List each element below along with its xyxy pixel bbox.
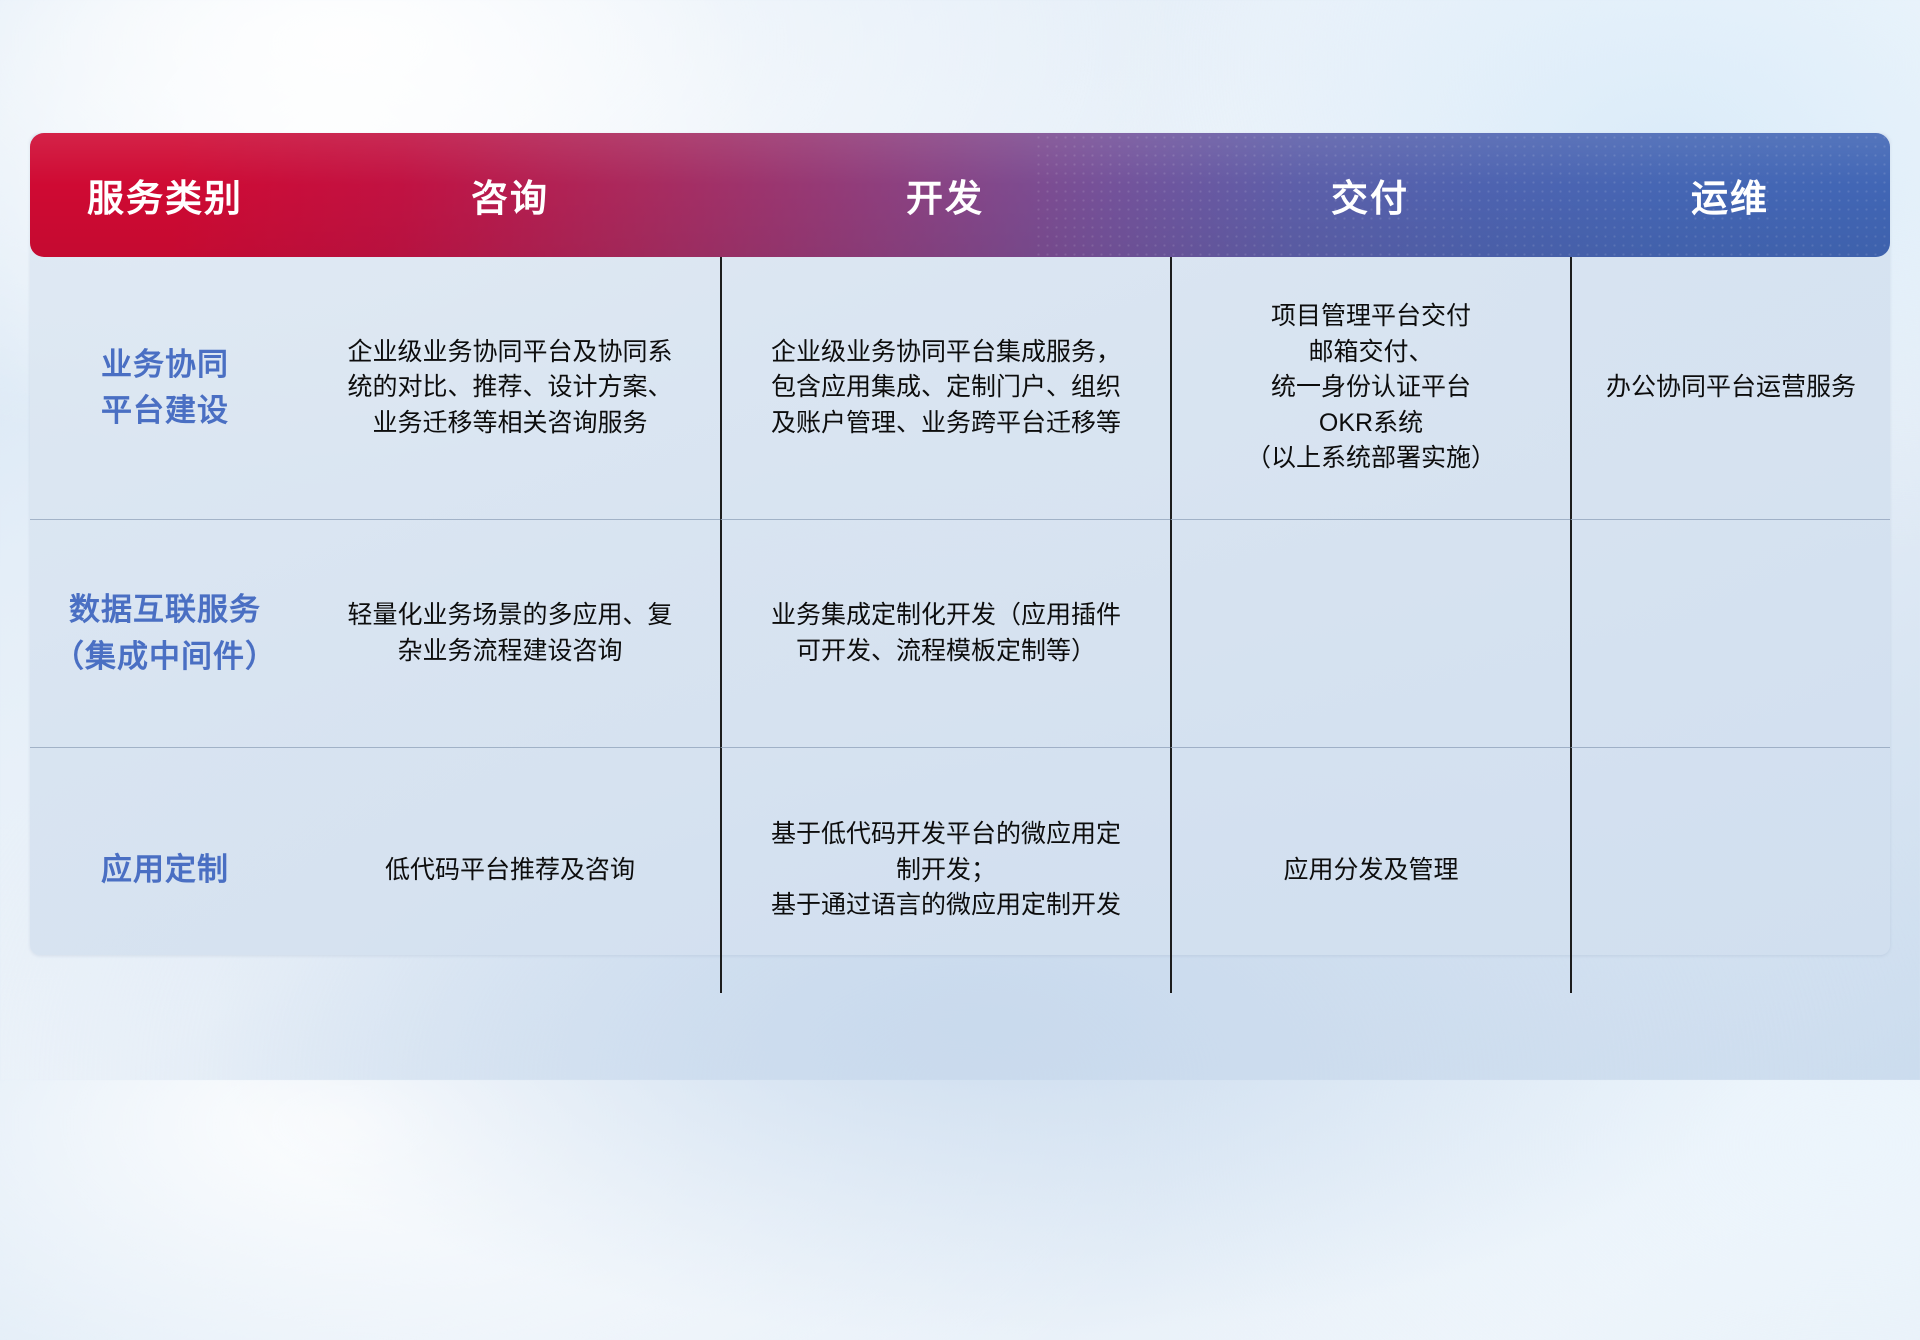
cell-row2-delivery — [1170, 519, 1570, 747]
cell-row1-consulting: 企业级业务协同平台及协同系 统的对比、推荐、设计方案、 业务迁移等相关咨询服务 — [300, 257, 720, 519]
service-matrix-table: 服务类别 咨询 开发 交付 运维 业务协同 平台建设 企业级业务协同平台及协同系… — [30, 133, 1890, 955]
column-header-consulting: 咨询 — [300, 133, 720, 257]
row-label-data-integration: 数据互联服务 （集成中间件） — [30, 519, 300, 747]
row-label-business-collaboration: 业务协同 平台建设 — [30, 257, 300, 519]
cell-row1-delivery: 项目管理平台交付 邮箱交付、 统一身份认证平台 OKR系统 （以上系统部署实施） — [1170, 257, 1570, 519]
column-header-operations: 运维 — [1570, 133, 1890, 257]
slide-canvas: 服务类别 咨询 开发 交付 运维 业务协同 平台建设 企业级业务协同平台及协同系… — [0, 0, 1920, 1080]
column-header-development: 开发 — [720, 133, 1170, 257]
cell-row3-development: 基于低代码开发平台的微应用定 制开发； 基于通过语言的微应用定制开发 — [720, 747, 1170, 993]
cell-row2-operations — [1570, 519, 1890, 747]
column-header-category: 服务类别 — [30, 133, 300, 257]
row-label-app-customization: 应用定制 — [30, 747, 300, 993]
cell-row3-consulting: 低代码平台推荐及咨询 — [300, 747, 720, 993]
cell-row1-development: 企业级业务协同平台集成服务， 包含应用集成、定制门户、组织 及账户管理、业务跨平… — [720, 257, 1170, 519]
table-body: 业务协同 平台建设 企业级业务协同平台及协同系 统的对比、推荐、设计方案、 业务… — [30, 257, 1890, 993]
cell-row2-development: 业务集成定制化开发（应用插件 可开发、流程模板定制等） — [720, 519, 1170, 747]
table-row: 应用定制 低代码平台推荐及咨询 基于低代码开发平台的微应用定 制开发； 基于通过… — [30, 747, 1890, 993]
table-row: 数据互联服务 （集成中间件） 轻量化业务场景的多应用、复 杂业务流程建设咨询 业… — [30, 519, 1890, 747]
cell-row3-delivery: 应用分发及管理 — [1170, 747, 1570, 993]
table-header-row: 服务类别 咨询 开发 交付 运维 — [30, 133, 1890, 257]
cell-row2-consulting: 轻量化业务场景的多应用、复 杂业务流程建设咨询 — [300, 519, 720, 747]
cell-row3-operations — [1570, 747, 1890, 993]
cell-row1-operations: 办公协同平台运营服务 — [1570, 257, 1890, 519]
column-header-delivery: 交付 — [1170, 133, 1570, 257]
table-row: 业务协同 平台建设 企业级业务协同平台及协同系 统的对比、推荐、设计方案、 业务… — [30, 257, 1890, 519]
